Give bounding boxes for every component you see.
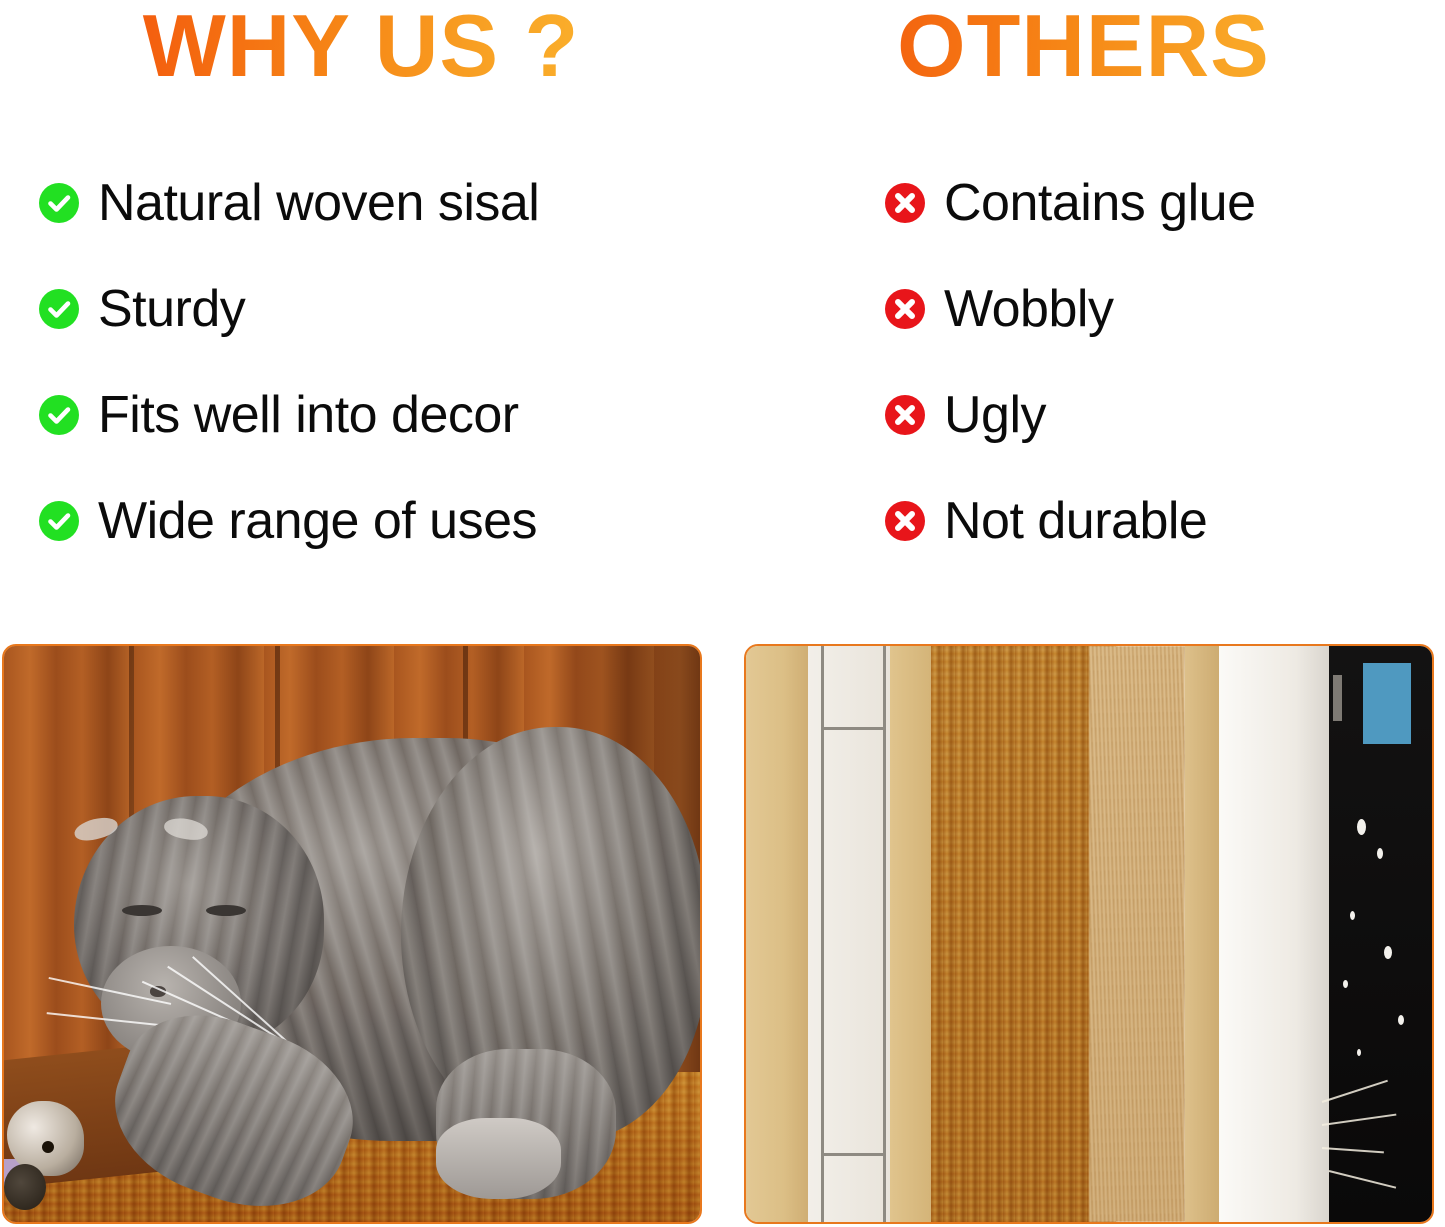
cross-circle-icon xyxy=(884,288,926,330)
list-item-label: Contains glue xyxy=(944,174,1256,232)
list-item: Contains glue xyxy=(884,150,1424,256)
list-item: Wobbly xyxy=(884,256,1424,362)
door-hinge xyxy=(1333,675,1343,721)
door-wood-right xyxy=(1185,646,1219,1222)
check-circle-icon xyxy=(38,182,80,224)
paint-splatter xyxy=(1343,980,1348,988)
photo-scene xyxy=(4,646,700,1222)
others-feature-list: Contains glue Wobbly Ugly Not durable xyxy=(884,150,1424,574)
list-item-label: Wobbly xyxy=(944,280,1113,338)
paint-splatter xyxy=(1357,1049,1361,1056)
list-item-label: Not durable xyxy=(944,492,1207,550)
list-item-label: Sturdy xyxy=(98,280,245,338)
door-wood-middle xyxy=(890,646,931,1222)
door-wood-left xyxy=(746,646,808,1222)
blue-tape xyxy=(1363,663,1411,744)
door-white-panel-left xyxy=(808,646,890,1222)
why-us-feature-list: Natural woven sisal Sturdy Fits well int… xyxy=(38,150,698,574)
check-circle-icon xyxy=(38,288,80,330)
check-circle-icon xyxy=(38,500,80,542)
paint-splatter xyxy=(1398,1015,1404,1025)
comparison-infographic: WHY US ? OTHERS Natural woven sisal Stur… xyxy=(0,0,1445,1227)
list-item-label: Wide range of uses xyxy=(98,492,537,550)
list-item: Ugly xyxy=(884,362,1424,468)
list-item: Fits well into decor xyxy=(38,362,698,468)
list-item: Sturdy xyxy=(38,256,698,362)
list-item-label: Natural woven sisal xyxy=(98,174,539,232)
door-panel-line xyxy=(821,1153,883,1156)
cat-on-sisal-scratching-mat-photo xyxy=(2,644,702,1224)
frayed-sisal-on-door-photo xyxy=(744,644,1434,1224)
check-circle-icon xyxy=(38,394,80,436)
list-item: Wide range of uses xyxy=(38,468,698,574)
cross-circle-icon xyxy=(884,182,926,224)
headings-row: WHY US ? OTHERS xyxy=(0,0,1445,150)
cat-toes xyxy=(436,1118,561,1199)
why-us-heading: WHY US ? xyxy=(0,0,722,92)
paint-splatter xyxy=(1377,848,1383,859)
paint-splatter xyxy=(1350,911,1355,920)
list-item-label: Fits well into decor xyxy=(98,386,519,444)
list-item: Natural woven sisal xyxy=(38,150,698,256)
list-item-label: Ugly xyxy=(944,386,1046,444)
frayed-sisal-fibers xyxy=(1089,646,1185,1222)
others-heading: OTHERS xyxy=(722,0,1445,92)
door-panel-line xyxy=(883,646,886,1222)
photo-scene xyxy=(746,646,1432,1222)
cross-circle-icon xyxy=(884,394,926,436)
cat-toy-dark-part xyxy=(4,1164,46,1210)
list-item: Not durable xyxy=(884,468,1424,574)
cross-circle-icon xyxy=(884,500,926,542)
door-panel-line xyxy=(821,727,883,730)
paint-splatter xyxy=(1357,819,1366,835)
door-panel-line xyxy=(821,646,824,1222)
paint-splatter xyxy=(1384,946,1392,959)
door-white-trim-right xyxy=(1219,646,1329,1222)
